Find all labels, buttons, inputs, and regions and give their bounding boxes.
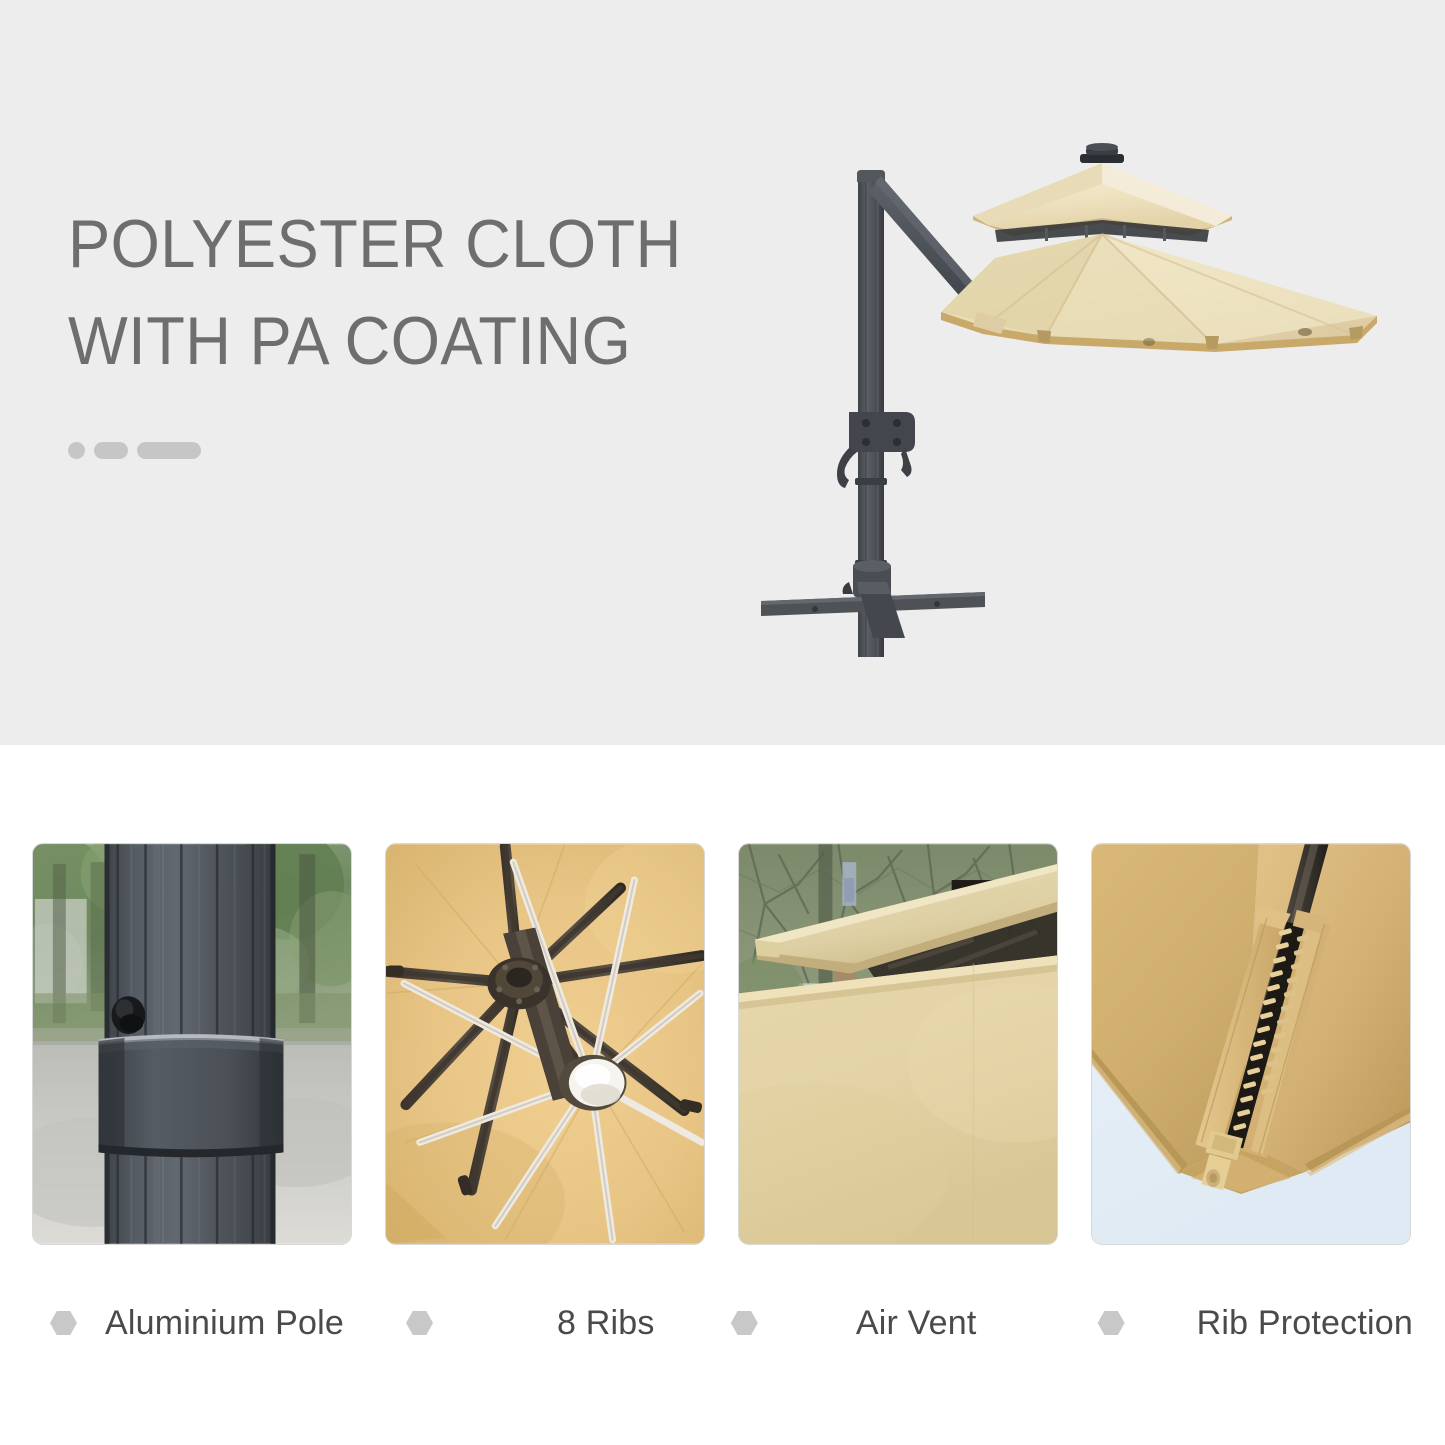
air-vent-closeup	[739, 844, 1057, 1244]
caption-label: 8 Ribs	[557, 1304, 655, 1343]
aluminium-pole-closeup	[33, 844, 351, 1244]
hero-panel: POLYESTER CLOTH WITH PA COATING	[0, 0, 1445, 745]
page-title: POLYESTER CLOTH WITH PA COATING	[68, 196, 756, 389]
feature-card-rib-protection[interactable]	[1091, 843, 1411, 1245]
caption-air-vent: Air Vent	[691, 1288, 1016, 1358]
caption-label: Air Vent	[856, 1304, 977, 1343]
hexagon-bullet-icon	[50, 1311, 77, 1335]
decor-dot-medium	[94, 442, 128, 459]
caption-label: Aluminium Pole	[105, 1304, 344, 1343]
hexagon-bullet-icon	[406, 1311, 433, 1335]
caption-label: Rib Protection	[1197, 1304, 1413, 1343]
eight-ribs-underside	[386, 844, 704, 1244]
feature-photo-row	[32, 843, 1413, 1245]
decor-dot-small	[68, 442, 85, 459]
decor-dot-long	[137, 442, 201, 459]
caption-rib-protection: Rib Protection	[1016, 1288, 1413, 1358]
feature-card-eight-ribs[interactable]	[385, 843, 705, 1245]
decorative-dots	[68, 442, 201, 459]
feature-caption-row: Aluminium Pole 8 Ribs Air Vent Rib Prote…	[32, 1288, 1413, 1358]
feature-card-aluminium-pole[interactable]	[32, 843, 352, 1245]
caption-aluminium-pole: Aluminium Pole	[32, 1288, 344, 1358]
product-image-cantilever-umbrella	[745, 130, 1405, 690]
caption-eight-ribs: 8 Ribs	[344, 1288, 691, 1358]
rib-protection-zipper	[1092, 844, 1410, 1244]
hexagon-bullet-icon	[731, 1311, 758, 1335]
feature-card-air-vent[interactable]	[738, 843, 1058, 1245]
hexagon-bullet-icon	[1098, 1311, 1125, 1335]
